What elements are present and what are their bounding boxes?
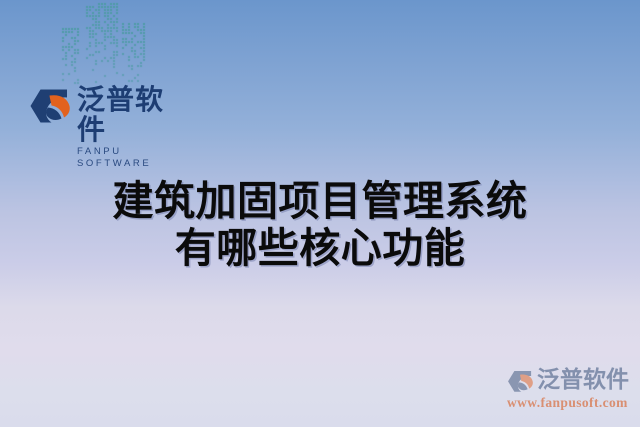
pixel-skyline-decoration [56,0,152,86]
fanpu-logo-mark-icon [29,88,73,126]
fanpu-watermark: 泛普软件 www.fanpusoft.com [506,368,634,418]
fanpu-logo: 泛普软件 FANPU SOFTWARE [29,86,189,132]
banner-root: 泛普软件 FANPU SOFTWARE 建筑加固项目管理系统 有哪些核心功能 泛… [0,0,640,427]
fanpu-logo-chinese: 泛普软件 [77,85,189,145]
page-title: 建筑加固项目管理系统 有哪些核心功能 [0,178,640,272]
page-title-line-1: 建筑加固项目管理系统 [0,178,640,225]
fanpu-logo-wordmark: 泛普软件 FANPU SOFTWARE [77,85,189,170]
watermark-url: www.fanpusoft.com [507,395,628,411]
fanpu-logo-english: FANPU SOFTWARE [77,146,189,170]
watermark-logo-mark-icon [506,370,536,394]
pixel-skyline-canvas [56,0,152,86]
watermark-chinese: 泛普软件 [537,366,629,394]
page-title-line-2: 有哪些核心功能 [0,225,640,272]
